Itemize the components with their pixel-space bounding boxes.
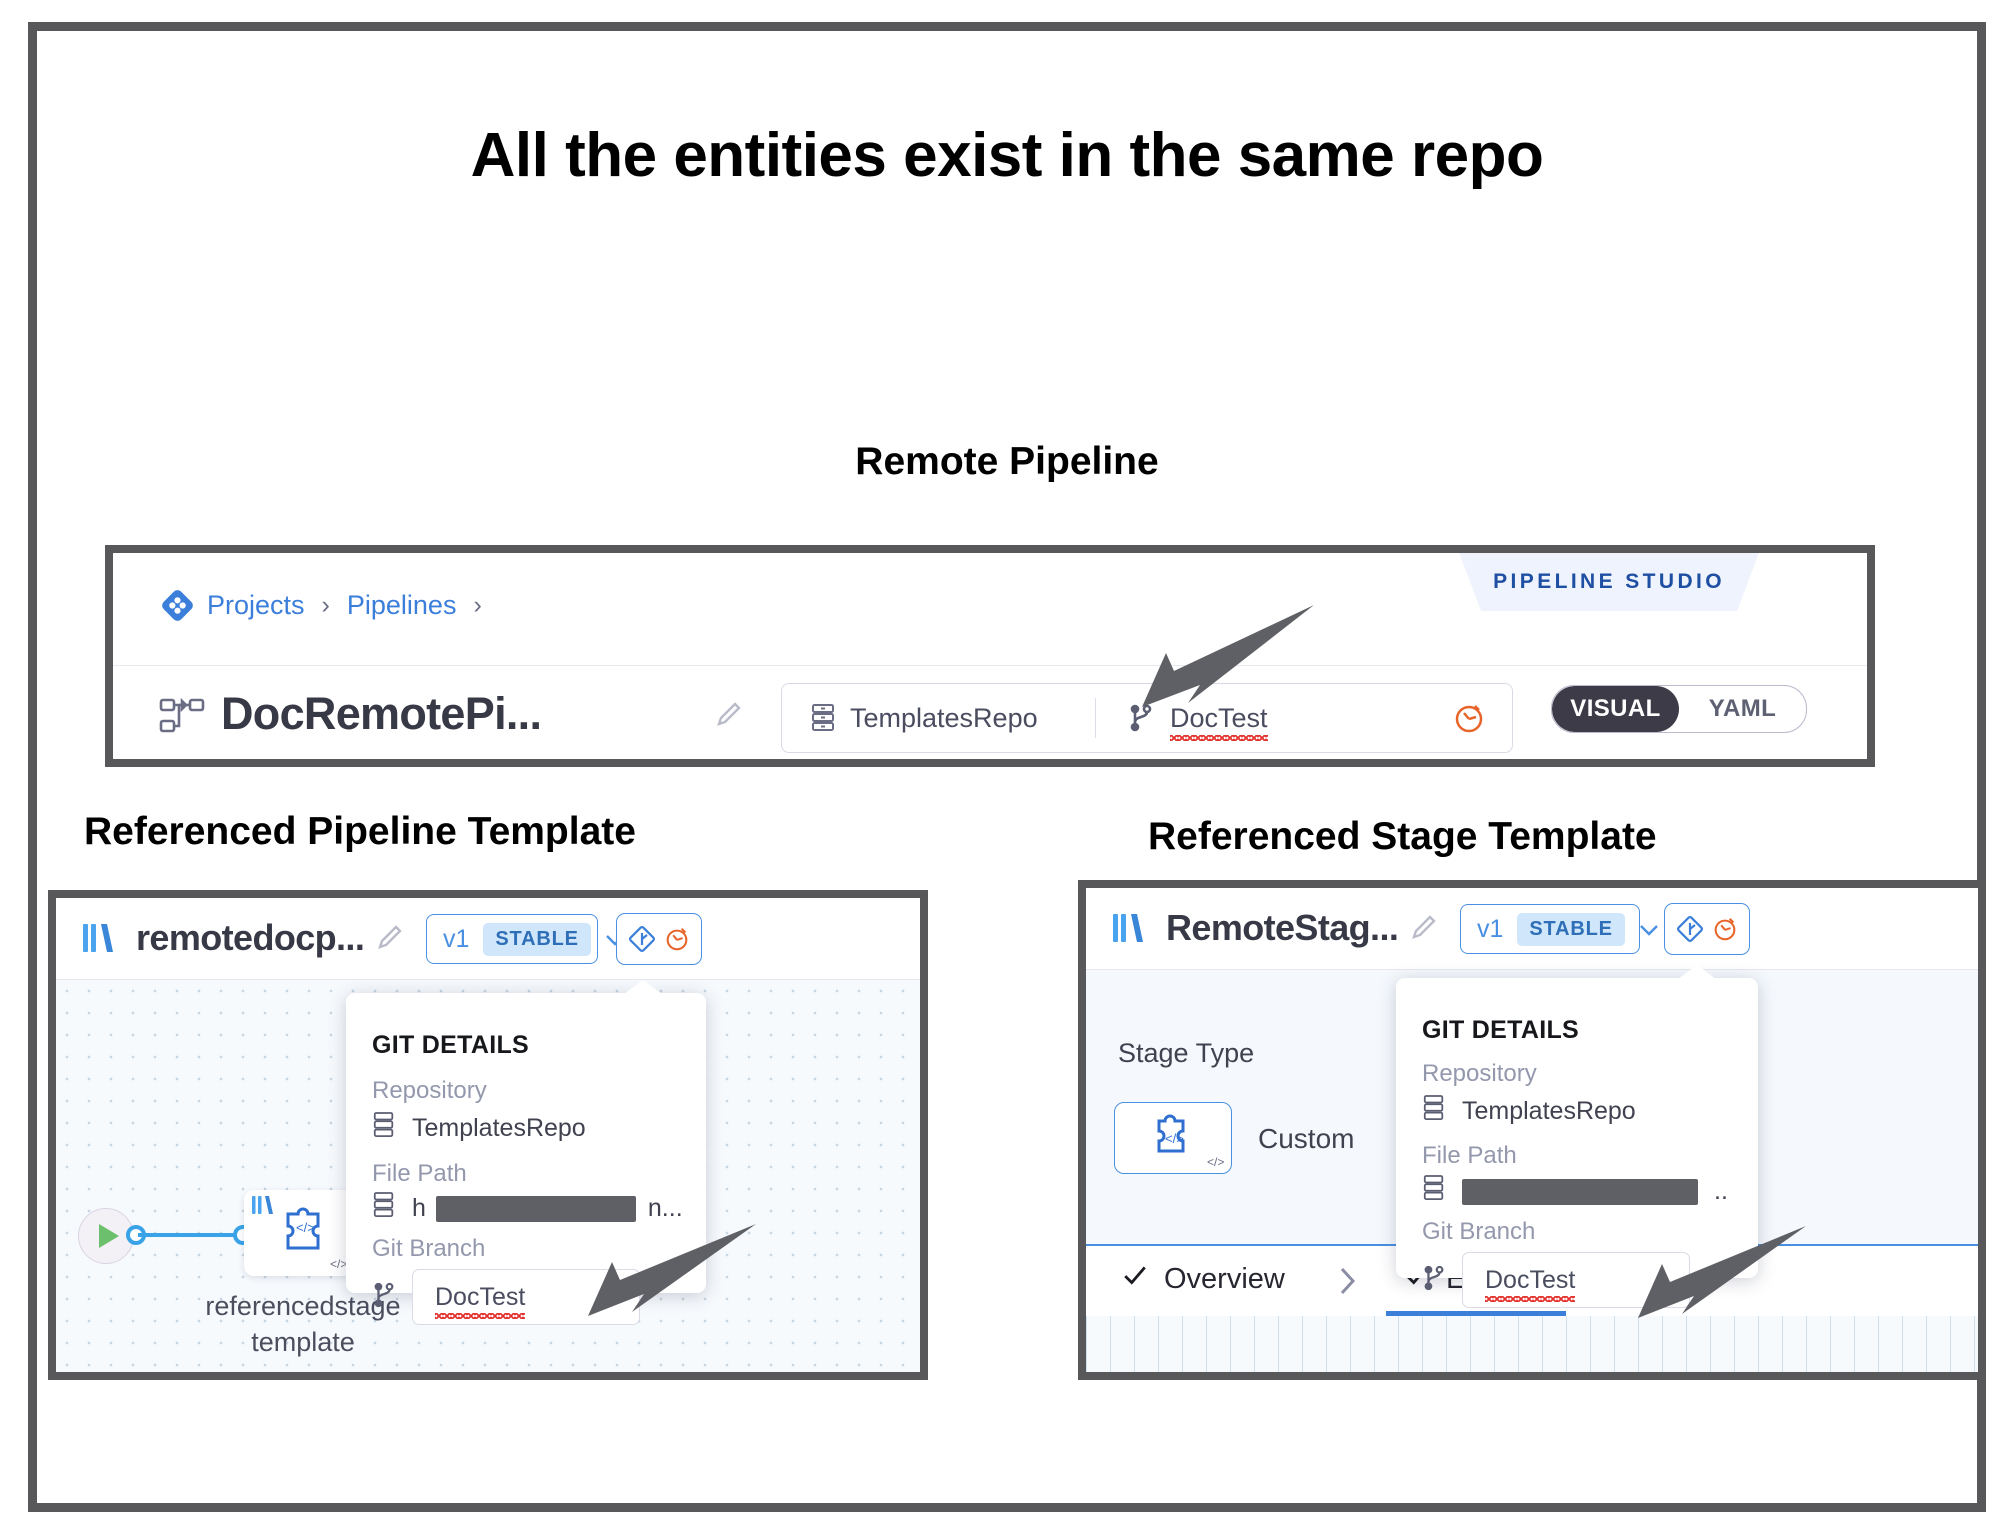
edit-pencil-icon[interactable]	[713, 700, 743, 730]
repository-value-row-stage: TemplatesRepo	[1422, 1094, 1636, 1129]
stage-type-label: Stage Type	[1118, 1038, 1254, 1069]
repository-icon-stage	[1422, 1094, 1446, 1129]
git-diamond-icon-stage	[1675, 914, 1705, 944]
section-heading-referenced-stage-template: Referenced Stage Template	[1148, 815, 1657, 859]
repository-value-row: TemplatesRepo	[372, 1111, 586, 1146]
toggle-visual[interactable]: VISUAL	[1552, 686, 1679, 732]
canvas-ruler	[1086, 1316, 1978, 1372]
repo-cell[interactable]: TemplatesRepo	[782, 702, 1095, 734]
file-path-label-stage: File Path	[1422, 1142, 1517, 1170]
repository-label: Repository	[372, 1077, 487, 1105]
version-label: v1	[443, 925, 469, 954]
check-icon	[1122, 1262, 1148, 1296]
edit-pencil-icon-stage-template[interactable]	[1408, 913, 1438, 943]
svg-text:</>: </>	[296, 1220, 315, 1235]
file-path-value-row-stage: ..	[1422, 1174, 1728, 1209]
breadcrumb-link-pipelines[interactable]: Pipelines	[347, 590, 457, 621]
git-branch-label-stage: Git Branch	[1422, 1218, 1535, 1246]
git-diamond-icon	[627, 924, 657, 954]
breadcrumb-link-projects[interactable]: Projects	[207, 590, 305, 621]
chevron-right-icon	[1338, 1266, 1358, 1301]
tab-label-overview: Overview	[1164, 1263, 1285, 1296]
remote-pipeline-screenshot: Projects › Pipelines › PIPELINE STUDIO	[105, 545, 1875, 767]
harness-icon-stage-template	[1711, 915, 1739, 943]
section-heading-referenced-pipeline-template: Referenced Pipeline Template	[84, 810, 636, 854]
chevron-down-icon[interactable]	[1639, 923, 1659, 935]
breadcrumb: Projects › Pipelines ›	[161, 589, 486, 622]
pipeline-icon	[159, 694, 205, 738]
svg-text:</>: </>	[1165, 1131, 1184, 1146]
pipeline-studio-badge-label: PIPELINE STUDIO	[1493, 570, 1725, 594]
version-tag: STABLE	[1517, 913, 1624, 946]
file-path-label: File Path	[372, 1160, 467, 1188]
git-details-button-stage-template[interactable]	[1664, 903, 1750, 955]
visual-yaml-toggle[interactable]: VISUAL YAML	[1551, 685, 1807, 733]
referenced-pipeline-template-screenshot: remotedocp... v1 STABLE	[48, 890, 928, 1380]
figure-title: All the entities exist in the same repo	[0, 120, 2014, 191]
annotation-arrow-remote-branch	[1100, 575, 1320, 755]
git-branch-label: Git Branch	[372, 1235, 485, 1263]
edit-pencil-icon-pipeline-template[interactable]	[374, 923, 404, 953]
file-path-redaction-stage	[1462, 1179, 1698, 1205]
pipeline-name: DocRemotePi...	[221, 688, 541, 740]
stage-template-version-selector[interactable]: v1 STABLE	[1460, 904, 1640, 954]
stage-node-card[interactable]: </> </>	[244, 1190, 354, 1276]
file-path-value: h	[412, 1194, 426, 1223]
git-details-button-pipeline-template[interactable]	[616, 913, 702, 965]
repository-value: TemplatesRepo	[412, 1114, 586, 1143]
harness-icon[interactable]	[1452, 701, 1486, 735]
git-branch-icon-stage-template	[1422, 1263, 1446, 1298]
breadcrumb-separator-icon: ›	[322, 591, 330, 620]
git-branch-value-stage: DocTest	[1485, 1266, 1575, 1295]
annotation-arrow-pipeline-template-branch	[560, 1210, 770, 1350]
version-tag: STABLE	[483, 923, 590, 956]
pipeline-template-header: remotedocp... v1 STABLE	[56, 898, 920, 980]
pipeline-studio-badge: PIPELINE STUDIO	[1459, 553, 1759, 611]
figure-root: All the entities exist in the same repo …	[0, 0, 2014, 1538]
template-icon-stage	[1112, 912, 1148, 944]
repository-icon-pipeline-template	[372, 1111, 396, 1146]
repository-icon-file-path-stage	[1422, 1174, 1446, 1209]
template-icon	[82, 922, 118, 954]
git-details-heading-stage: GIT DETAILS	[1422, 1016, 1579, 1045]
repository-icon-file-path	[372, 1191, 396, 1226]
stage-type-value: Custom	[1258, 1123, 1354, 1155]
play-icon	[99, 1224, 119, 1248]
harness-icon-pipeline-template	[663, 925, 691, 953]
version-label: v1	[1477, 915, 1503, 944]
tab-overview[interactable]: Overview	[1122, 1262, 1285, 1296]
annotation-arrow-stage-template-branch	[1610, 1212, 1820, 1352]
git-branch-value: DocTest	[435, 1283, 525, 1312]
svg-text:</>: </>	[1207, 1155, 1224, 1169]
pipeline-template-version-selector[interactable]: v1 STABLE	[426, 914, 598, 964]
file-path-suffix-stage: ..	[1714, 1177, 1728, 1206]
stage-type-custom-button[interactable]: </> </>	[1114, 1102, 1232, 1174]
repository-value-stage: TemplatesRepo	[1462, 1097, 1636, 1126]
stage-label-line2: template	[174, 1324, 432, 1360]
repository-value: TemplatesRepo	[850, 703, 1038, 734]
git-branch-icon-pipeline-template	[372, 1280, 396, 1315]
stage-template-header: RemoteStag... v1 STABLE	[1086, 888, 1978, 970]
referenced-stage-template-screenshot: RemoteStag... v1 STABLE Stage Type	[1078, 880, 1986, 1380]
repository-icon	[810, 702, 836, 734]
breadcrumb-separator-icon-2: ›	[473, 591, 481, 620]
projects-icon	[161, 589, 194, 622]
stage-template-name: RemoteStag...	[1166, 907, 1398, 949]
toggle-yaml[interactable]: YAML	[1679, 686, 1806, 732]
connector-wire-1	[138, 1233, 238, 1237]
svg-text:</>: </>	[330, 1257, 347, 1271]
section-heading-remote-pipeline: Remote Pipeline	[0, 440, 2014, 484]
pipeline-template-name: remotedocp...	[136, 917, 364, 959]
git-details-heading: GIT DETAILS	[372, 1031, 529, 1060]
pipeline-titlebar: DocRemotePi... TemplatesRepo	[113, 666, 1867, 767]
repository-label-stage: Repository	[1422, 1060, 1537, 1088]
breadcrumb-bar: Projects › Pipelines › PIPELINE STUDIO	[113, 553, 1867, 666]
